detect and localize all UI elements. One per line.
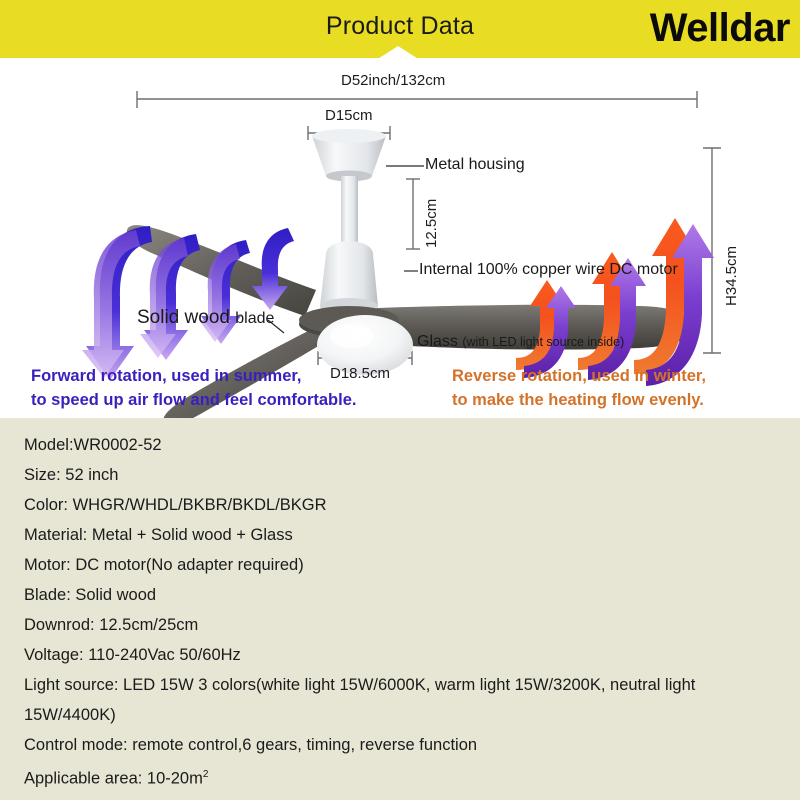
caption-forward-line2: to speed up air flow and feel comfortabl… [31,389,356,411]
spec-model: Model:WR0002-52 [24,430,776,460]
spec-blade: Blade: Solid wood [24,580,776,610]
spec-control-mode: Control mode: remote control,6 gears, ti… [24,730,776,760]
callout-metal-housing: Metal housing [425,156,525,174]
caption-reverse-line1: Reverse rotation, used in winter, [452,365,706,387]
header-banner: Product Data Welldar [0,0,800,58]
spec-area-superscript: 2 [203,769,209,780]
callout-glass: Glass (with LED light source inside) [417,333,624,351]
spec-voltage: Voltage: 110-240Vac 50/60Hz [24,640,776,670]
callout-glass-sub: (with LED light source inside) [462,335,624,349]
spec-light-source: Light source: LED 15W 3 colors(white lig… [24,670,776,700]
callout-solid-wood-blade: Solid wood blade [137,307,274,329]
spec-material: Material: Metal + Solid wood + Glass [24,520,776,550]
dimension-canopy-diameter: D15cm [325,107,373,124]
callout-blade-main: Solid wood [137,307,230,328]
product-data-page: Product Data Welldar [0,0,800,800]
spec-applicable-space: Applicable space: living room/Restaurant… [24,794,776,800]
reverse-airflow-arrows [516,218,714,386]
dimension-total-height: H34.5cm [723,246,740,306]
spec-light-source-cont: 15W/4400K) [24,700,776,730]
callout-glass-main: Glass [417,333,458,350]
product-diagram: D52inch/132cm D15cm 12.5cm H34.5cm D18.5… [0,58,800,418]
callout-dc-motor: Internal 100% copper wire DC motor [419,261,678,279]
caption-reverse-line2: to make the heating flow evenly. [452,389,704,411]
spec-applicable-area: Applicable area: 10-20m2 [24,760,776,794]
spec-size: Size: 52 inch [24,460,776,490]
brand-logo: Welldar [650,2,790,54]
callout-blade-sub: blade [235,310,274,327]
spec-motor: Motor: DC motor(No adapter required) [24,550,776,580]
spec-area-text: Applicable area: 10-20m [24,770,203,788]
dimension-downrod-height: 12.5cm [423,199,440,248]
dimension-overall-diameter: D52inch/132cm [341,72,445,89]
specifications-panel: Model:WR0002-52 Size: 52 inch Color: WHG… [0,418,800,800]
caption-forward-line1: Forward rotation, used in summer, [31,365,301,387]
fan-illustration [0,58,800,418]
spec-color: Color: WHGR/WHDL/BKBR/BKDL/BKGR [24,490,776,520]
dimension-light-diameter: D18.5cm [330,365,390,382]
spec-downrod: Downrod: 12.5cm/25cm [24,610,776,640]
